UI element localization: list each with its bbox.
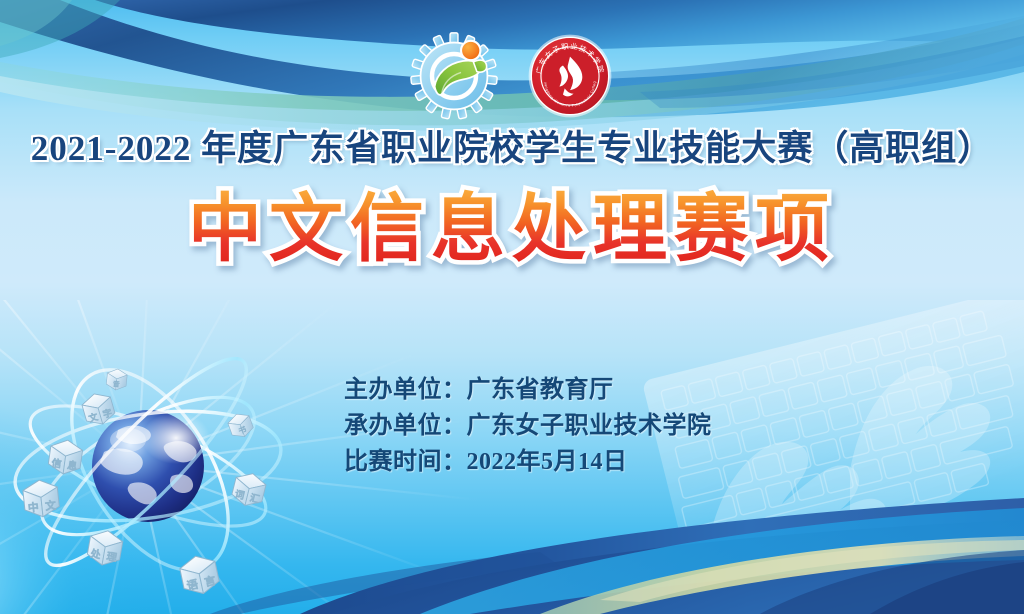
svg-text:词: 词 <box>234 489 246 502</box>
date-value: 2022年5月14日 <box>467 449 628 475</box>
subtitle: 2021-2022 年度广东省职业院校学生专业技能大赛（高职组） <box>0 126 1024 172</box>
title-block: 2021-2022 年度广东省职业院校学生专业技能大赛（高职组） 中文信息处理赛… <box>0 126 1024 272</box>
header-logos: 广东女子职业技术学院 Guangdong Women's Polytechnic… <box>0 30 1024 122</box>
competition-banner: 文 字 信 息 中 文 <box>0 0 1024 614</box>
svg-text:书: 书 <box>237 424 248 436</box>
host-line: 承办单位：广东女子职业技术学院 <box>344 408 712 444</box>
main-title: 中文信息处理赛项 <box>0 186 1024 272</box>
svg-text:文: 文 <box>44 498 56 513</box>
svg-text:中: 中 <box>27 501 39 515</box>
organizer-line: 主办单位：广东省教育厅 <box>344 372 712 408</box>
svg-text:息: 息 <box>67 458 79 472</box>
host-value: 广东女子职业技术学院 <box>467 413 712 439</box>
gear-leaf-figure-logo <box>410 32 498 120</box>
svg-text:音: 音 <box>112 379 120 389</box>
date-line: 比赛时间：2022年5月14日 <box>344 444 712 480</box>
host-label: 承办单位： <box>344 413 467 439</box>
main-title-wrap: 中文信息处理赛项 中文信息处理赛项 <box>0 186 1024 272</box>
svg-text:理: 理 <box>106 551 118 565</box>
svg-text:语: 语 <box>186 578 200 593</box>
svg-text:处: 处 <box>90 548 102 562</box>
svg-text:信: 信 <box>51 457 63 470</box>
svg-text:字: 字 <box>101 407 113 421</box>
date-label: 比赛时间： <box>344 449 467 475</box>
event-info-block: 主办单位：广东省教育厅 承办单位：广东女子职业技术学院 比赛时间：2022年5月… <box>344 372 712 480</box>
guangdong-womens-polytechnic-college-seal: 广东女子职业技术学院 Guangdong Women's Polytechnic… <box>526 32 614 120</box>
organizer-value: 广东省教育厅 <box>467 377 614 403</box>
svg-text:言: 言 <box>203 574 217 589</box>
organizer-label: 主办单位： <box>344 377 467 403</box>
svg-text:文: 文 <box>87 411 99 425</box>
svg-text:汇: 汇 <box>248 493 260 506</box>
